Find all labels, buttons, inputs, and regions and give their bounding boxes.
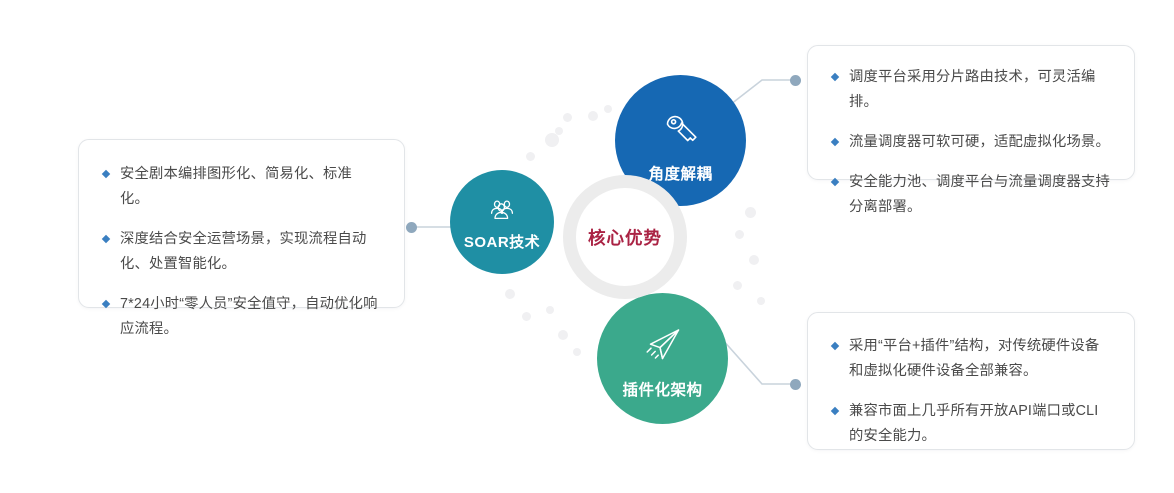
list-item: 调度平台采用分片路由技术，可灵活编排。 [830,65,1110,115]
decorative-dot [749,255,759,265]
bullet-list-angle-decoupling: 调度平台采用分片路由技术，可灵活编排。 流量调度器可软可硬，适配虚拟化场景。 安… [830,65,1110,220]
node-plugin-architecture-label: 插件化架构 [622,378,702,400]
decorative-dot [604,105,612,113]
node-soar[interactable]: SOAR技术 [450,170,554,274]
list-item-text: 7*24小时“零人员”安全值守，自动优化响应流程。 [120,296,378,337]
node-soar-label: SOAR技术 [464,231,540,252]
diagram-canvas: 安全剧本编排图形化、简易化、标准化。 深度结合安全运营场景，实现流程自动化、处置… [0,0,1174,493]
bullet-list-plugin-architecture: 采用“平台+插件”结构，对传统硬件设备和虚拟化硬件设备全部兼容。 兼容市面上几乎… [830,334,1110,449]
list-item-text: 调度平台采用分片路由技术，可灵活编排。 [849,69,1095,110]
decorative-dot [522,312,531,321]
diamond-bullet-icon [831,178,839,186]
diamond-bullet-icon [831,73,839,81]
list-item: 流量调度器可软可硬，适配虚拟化场景。 [830,130,1110,155]
node-angle-decoupling-label: 角度解耦 [648,162,712,184]
list-item-text: 兼容市面上几乎所有开放API端口或CLI的安全能力。 [849,403,1098,444]
bullet-list-soar: 安全剧本编排图形化、简易化、标准化。 深度结合安全运营场景，实现流程自动化、处置… [101,162,378,342]
diamond-bullet-icon [831,407,839,415]
list-item: 安全剧本编排图形化、简易化、标准化。 [101,162,378,212]
node-plugin-architecture[interactable]: 插件化架构 [597,293,728,424]
list-item: 采用“平台+插件”结构，对传统硬件设备和虚拟化硬件设备全部兼容。 [830,334,1110,384]
list-item-text: 采用“平台+插件”结构，对传统硬件设备和虚拟化硬件设备全部兼容。 [849,338,1099,379]
diamond-bullet-icon [102,300,110,308]
decorative-dot [588,111,598,121]
list-item: 7*24小时“零人员”安全值守，自动优化响应流程。 [101,292,378,342]
list-item-text: 流量调度器可软可硬，适配虚拟化场景。 [849,134,1110,150]
list-item: 安全能力池、调度平台与流量调度器支持分离部署。 [830,170,1110,220]
info-box-plugin-architecture: 采用“平台+插件”结构，对传统硬件设备和虚拟化硬件设备全部兼容。 兼容市面上几乎… [807,312,1135,450]
people-group-icon [487,199,517,226]
list-item: 兼容市面上几乎所有开放API端口或CLI的安全能力。 [830,399,1110,449]
list-item-text: 安全能力池、调度平台与流量调度器支持分离部署。 [849,174,1110,215]
key-icon [662,112,700,155]
center-node-label: 核心优势 [588,225,662,250]
diamond-bullet-icon [102,235,110,243]
decorative-dot [573,348,581,356]
connector-top-right [726,80,795,108]
paper-plane-icon [642,327,684,370]
decorative-dot [745,207,756,218]
diamond-bullet-icon [831,342,839,350]
diamond-bullet-icon [831,138,839,146]
info-box-soar: 安全剧本编排图形化、简易化、标准化。 深度结合安全运营场景，实现流程自动化、处置… [78,139,405,308]
center-node-core-advantage[interactable]: 核心优势 [563,175,687,299]
connector-endpoint-dot-bottom-right [790,379,801,390]
decorative-dot [558,330,568,340]
decorative-dot [757,297,765,305]
connector-endpoint-dot-top-right [790,75,801,86]
decorative-dot [733,281,742,290]
decorative-dot [526,152,535,161]
decorative-dot [563,113,572,122]
diamond-bullet-icon [102,170,110,178]
decorative-dot [735,230,744,239]
decorative-dot [505,289,515,299]
list-item-text: 深度结合安全运营场景，实现流程自动化、处置智能化。 [120,231,366,272]
connector-endpoint-dot-left [406,222,417,233]
list-item-text: 安全剧本编排图形化、简易化、标准化。 [120,166,352,207]
list-item: 深度结合安全运营场景，实现流程自动化、处置智能化。 [101,227,378,277]
decorative-dot [546,306,554,314]
decorative-dot [545,133,559,147]
info-box-angle-decoupling: 调度平台采用分片路由技术，可灵活编排。 流量调度器可软可硬，适配虚拟化场景。 安… [807,45,1135,180]
